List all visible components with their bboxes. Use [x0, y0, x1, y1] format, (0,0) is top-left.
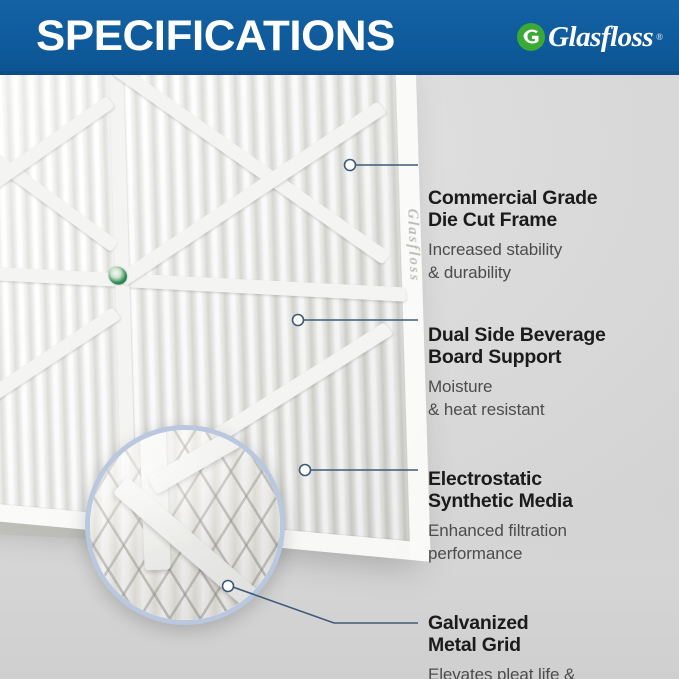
callout-electrostatic-synthetic-media: Electrostatic Synthetic Media Enhanced f… — [428, 469, 676, 565]
callout-dual-side-beverage-board-support: Dual Side Beverage Board Support Moistur… — [428, 325, 676, 421]
callout-body: Increased stability & durability — [428, 238, 676, 284]
callout-body: Moisture & heat resistant — [428, 375, 676, 421]
media-closeup-inset — [85, 425, 285, 625]
callout-title: Dual Side Beverage Board Support — [428, 325, 676, 368]
closeup-shading — [90, 430, 280, 620]
center-rivet-icon — [108, 266, 127, 285]
callout-body: Enhanced filtration performance — [428, 519, 676, 565]
callout-title: Commercial Grade Die Cut Frame — [428, 188, 676, 231]
callout-title: Galvanized Metal Grid — [428, 613, 676, 656]
glasfloss-g-mark-icon — [516, 22, 546, 52]
product-photo-stage: Glasfloss — [0, 73, 679, 679]
registered-trademark-icon: ® — [656, 32, 663, 42]
specifications-infographic: SPECIFICATIONS Glasfloss ® — [0, 0, 679, 679]
header-bar: SPECIFICATIONS Glasfloss ® — [0, 0, 679, 71]
brand-wordmark: Glasfloss — [548, 23, 653, 52]
callout-commercial-grade-die-cut-frame: Commercial Grade Die Cut Frame Increased… — [428, 188, 676, 284]
page-title: SPECIFICATIONS — [36, 14, 395, 58]
callout-title: Electrostatic Synthetic Media — [428, 469, 676, 512]
brand-logo: Glasfloss ® — [516, 21, 663, 53]
callout-body: Elevates pleat life & holding capacity — [428, 663, 676, 679]
header-divider — [0, 71, 679, 75]
product-brand-stamp: Glasfloss — [403, 208, 424, 283]
callout-galvanized-metal-grid: Galvanized Metal Grid Elevates pleat lif… — [428, 613, 676, 679]
